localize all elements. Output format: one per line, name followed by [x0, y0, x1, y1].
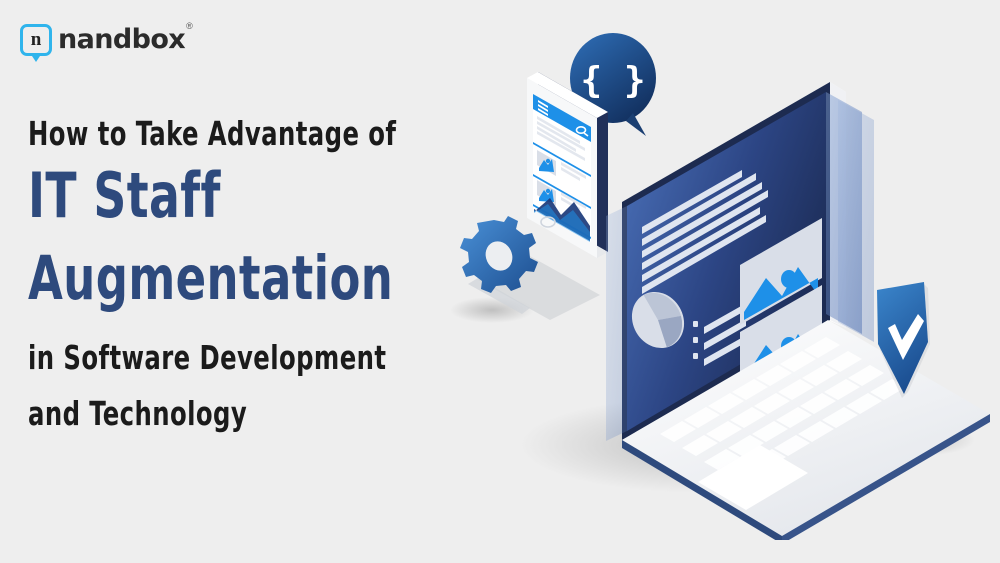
nandbox-logo[interactable]: n nandbox ® [20, 24, 193, 56]
headline-line-5: and Technology [28, 392, 413, 436]
logo-letter: n [31, 30, 42, 49]
page-title: How to Take Advantage of IT Staff Augmen… [28, 112, 498, 436]
hero-illustration: { } [430, 20, 1000, 540]
laptop-device [606, 78, 990, 540]
blog-banner: n nandbox ® How to Take Advantage of IT … [0, 0, 1000, 563]
trademark-symbol: ® [186, 22, 193, 31]
layered-panel [838, 100, 874, 342]
headline-line-1: How to Take Advantage of [28, 112, 413, 156]
layered-panel [606, 206, 627, 441]
headline-line-4: in Software Development [28, 336, 413, 380]
nandbox-speech-bubble-logo-icon: n [20, 24, 52, 56]
headline-line-3: Augmentation [28, 236, 413, 322]
logo-wordmark: nandbox [58, 24, 185, 56]
svg-text:{ }: { } [580, 60, 645, 101]
headline-line-2: IT Staff [28, 156, 413, 236]
